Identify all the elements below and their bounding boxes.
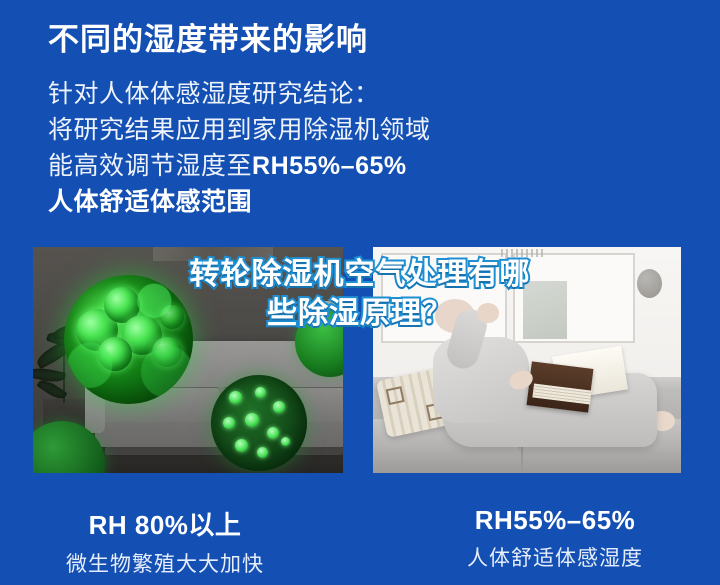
virus-spike xyxy=(267,427,279,439)
body-line-3-bold: RH55%–65% xyxy=(252,152,407,180)
body-copy: 针对人体体感湿度研究结论： 将研究结果应用到家用除湿机领域 能高效调节湿度至RH… xyxy=(48,76,431,220)
microbe-sphere xyxy=(122,315,162,355)
caption-left: RH 80%以上 微生物繁殖大大加快 xyxy=(0,505,345,578)
virus-spike xyxy=(229,391,242,404)
photo-right-comfort-room xyxy=(373,247,681,473)
microbe-sphere xyxy=(160,305,184,329)
caption-left-title: RH 80%以上 xyxy=(0,505,345,542)
virus-spike xyxy=(281,437,290,446)
wall-decoration xyxy=(501,249,545,257)
person-hand xyxy=(477,303,499,323)
body-line-1: 针对人体体感湿度研究结论： xyxy=(48,76,431,112)
microbe-cluster-icon xyxy=(64,275,193,404)
book xyxy=(529,357,625,415)
body-line-3: 能高效调节湿度至RH55%–65% xyxy=(48,148,431,184)
caption-right-title: RH55%–65% xyxy=(375,505,720,536)
page-title: 不同的湿度带来的影响 xyxy=(48,14,368,59)
sofa-base xyxy=(373,449,681,473)
microbe-sphere xyxy=(152,337,182,367)
virus-spike xyxy=(273,401,285,413)
pillow-motif xyxy=(386,386,405,405)
photo-row xyxy=(0,247,720,473)
body-line-3-normal: 能高效调节湿度至 xyxy=(48,152,252,180)
body-line-4: 人体舒适体感范围 xyxy=(48,184,431,220)
caption-left-subtitle: 微生物繁殖大大加快 xyxy=(0,548,345,578)
caption-right: RH55%–65% 人体舒适体感湿度 xyxy=(375,505,720,572)
caption-row: RH 80%以上 微生物繁殖大大加快 RH55%–65% 人体舒适体感湿度 xyxy=(0,505,720,575)
photo-left-humid-room xyxy=(33,247,343,473)
body-line-2: 将研究结果应用到家用除湿机领域 xyxy=(48,112,431,148)
wall-panel xyxy=(153,247,273,261)
virus-sphere-icon xyxy=(211,375,307,471)
wall-art xyxy=(523,281,567,339)
wall-speaker-icon xyxy=(637,269,662,298)
microbe-sphere xyxy=(76,309,118,351)
virus-spike xyxy=(257,447,268,458)
caption-right-subtitle: 人体舒适体感湿度 xyxy=(375,542,720,572)
virus-spike xyxy=(245,413,259,427)
microbe-sphere xyxy=(98,337,132,371)
microbe-sphere xyxy=(104,287,140,323)
virus-spike xyxy=(255,387,266,398)
virus-spike xyxy=(223,417,235,429)
virus-spike xyxy=(235,439,248,452)
poster-root: 不同的湿度带来的影响 针对人体体感湿度研究结论： 将研究结果应用到家用除湿机领域… xyxy=(0,0,720,585)
